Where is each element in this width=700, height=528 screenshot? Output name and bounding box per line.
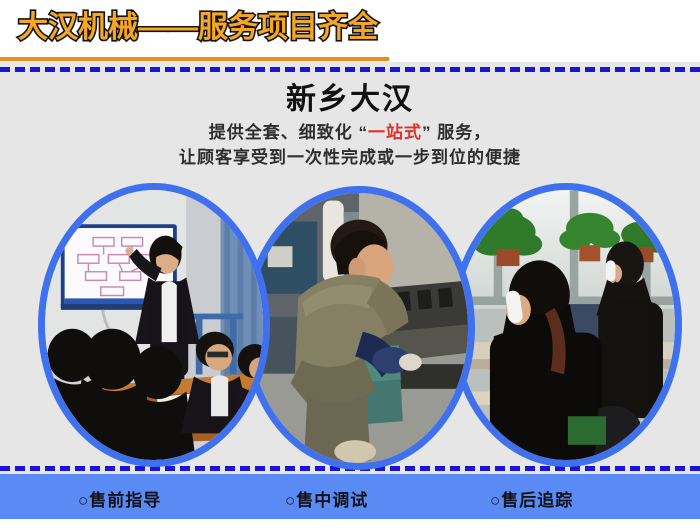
promo-banner: 大汉机械——服务项目齐全 新乡大汉 提供全套、细致化 “一站式” 服务， 让顾客… <box>0 0 700 528</box>
photo-clip <box>45 190 263 460</box>
headline-block: 新乡大汉 提供全套、细致化 “一站式” 服务， 让顾客享受到一次性完成或一步到位… <box>0 82 700 170</box>
tagline-line-1: 提供全套、细致化 “一站式” 服务， <box>0 120 700 145</box>
service-stage-label: 售中调试 <box>296 491 368 510</box>
tagline-prefix: 提供全套、细致化 “ <box>209 123 368 142</box>
service-stage-label: 售后追踪 <box>501 491 573 510</box>
service-stage-list: ○售前指导 ○售中调试 ○售后追踪 <box>0 474 700 519</box>
tagline-highlight: 一站式 <box>368 123 422 142</box>
service-stage-pre-sale[interactable]: ○售前指导 <box>78 486 161 511</box>
brand-name: 新乡大汉 <box>0 82 700 118</box>
customer-service-photo <box>450 183 682 467</box>
photo-clip <box>250 193 468 463</box>
machine-installation-photo <box>243 186 475 470</box>
customer-service-illustration <box>457 190 675 460</box>
circle-marker-icon: ○ <box>490 491 501 510</box>
training-room-illustration <box>45 190 263 460</box>
circle-marker-icon: ○ <box>78 491 89 510</box>
dashed-divider-top <box>0 67 700 72</box>
tagline-suffix: ” 服务， <box>422 123 491 142</box>
header: 大汉机械——服务项目齐全 <box>0 0 700 62</box>
service-stage-bar: ○售前指导 ○售中调试 ○售后追踪 <box>0 474 700 519</box>
service-stage-in-sale[interactable]: ○售中调试 <box>285 486 368 511</box>
header-underline <box>0 57 389 61</box>
service-stage-label: 售前指导 <box>89 491 161 510</box>
photo-clip <box>457 190 675 460</box>
page-title: 大汉机械——服务项目齐全 <box>18 9 378 47</box>
training-room-photo <box>38 183 270 467</box>
content-panel: 新乡大汉 提供全套、细致化 “一站式” 服务， 让顾客享受到一次性完成或一步到位… <box>0 62 700 474</box>
machine-installation-illustration <box>250 193 468 463</box>
service-stage-after-sale[interactable]: ○售后追踪 <box>490 486 573 511</box>
bottom-white-strip <box>0 519 700 528</box>
photo-group <box>0 180 700 470</box>
tagline-line-2: 让顾客享受到一次性完成或一步到位的便捷 <box>0 145 700 170</box>
circle-marker-icon: ○ <box>285 491 296 510</box>
